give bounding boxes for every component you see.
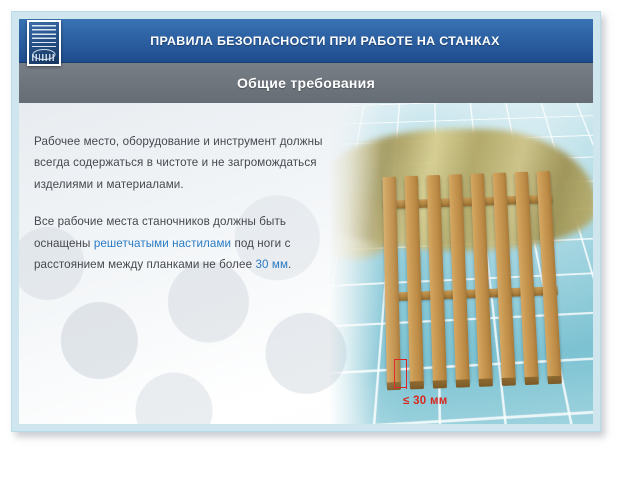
highlight-30-mm: 30 мм: [255, 258, 288, 271]
dimension-label: ≤ 30 мм: [403, 395, 448, 407]
slide-frame: ПРАВИЛА БЕЗОПАСНОСТИ ПРИ РАБОТЕ НА СТАНК…: [11, 11, 601, 432]
slide-body: ≤ 30 мм Рабочее место, оборудование и ин…: [19, 103, 593, 424]
dimension-caliper: [392, 359, 414, 393]
institute-emblem-logo: [27, 20, 61, 66]
slat-end-cap: [547, 376, 561, 384]
slat-end-cap: [456, 379, 470, 387]
slat-end-cap: [502, 378, 516, 386]
highlight-grating-decks: решетчатыми настилами: [94, 237, 231, 250]
photo-scene: ≤ 30 мм: [329, 103, 593, 424]
slide-title-bar: ПРАВИЛА БЕЗОПАСНОСТИ ПРИ РАБОТЕ НА СТАНК…: [19, 19, 593, 63]
slide-root: ПРАВИЛА БЕЗОПАСНОСТИ ПРИ РАБОТЕ НА СТАНК…: [0, 0, 640, 480]
slide-subtitle: Общие требования: [237, 75, 375, 91]
paragraph-one-text: Рабочее место, оборудование и инструмент…: [34, 135, 323, 191]
slat-end-cap: [525, 377, 539, 385]
logo-text-lines-icon: [32, 25, 56, 47]
wooden-grating-photo: ≤ 30 мм: [329, 103, 593, 424]
duckboard-grating: [381, 171, 565, 391]
slide-title: ПРАВИЛА БЕЗОПАСНОСТИ ПРИ РАБОТЕ НА СТАНК…: [112, 34, 500, 48]
slat-end-cap: [479, 378, 493, 386]
caliper-line-left: [394, 359, 395, 389]
logo-base-pattern-icon: [32, 54, 56, 61]
paragraph-two: Все рабочие места станочников должны быт…: [34, 211, 334, 276]
body-text-column: Рабочее место, оборудование и инструмент…: [34, 119, 334, 288]
slide-subtitle-bar: Общие требования: [19, 63, 593, 103]
paragraph-two-text-c: .: [288, 258, 291, 271]
paragraph-one: Рабочее место, оборудование и инструмент…: [34, 131, 334, 196]
slat-end-cap: [433, 380, 447, 388]
slide-inner: ПРАВИЛА БЕЗОПАСНОСТИ ПРИ РАБОТЕ НА СТАНК…: [19, 19, 593, 424]
caliper-bottom-bar: [394, 387, 407, 388]
caliper-line-right: [406, 359, 407, 389]
